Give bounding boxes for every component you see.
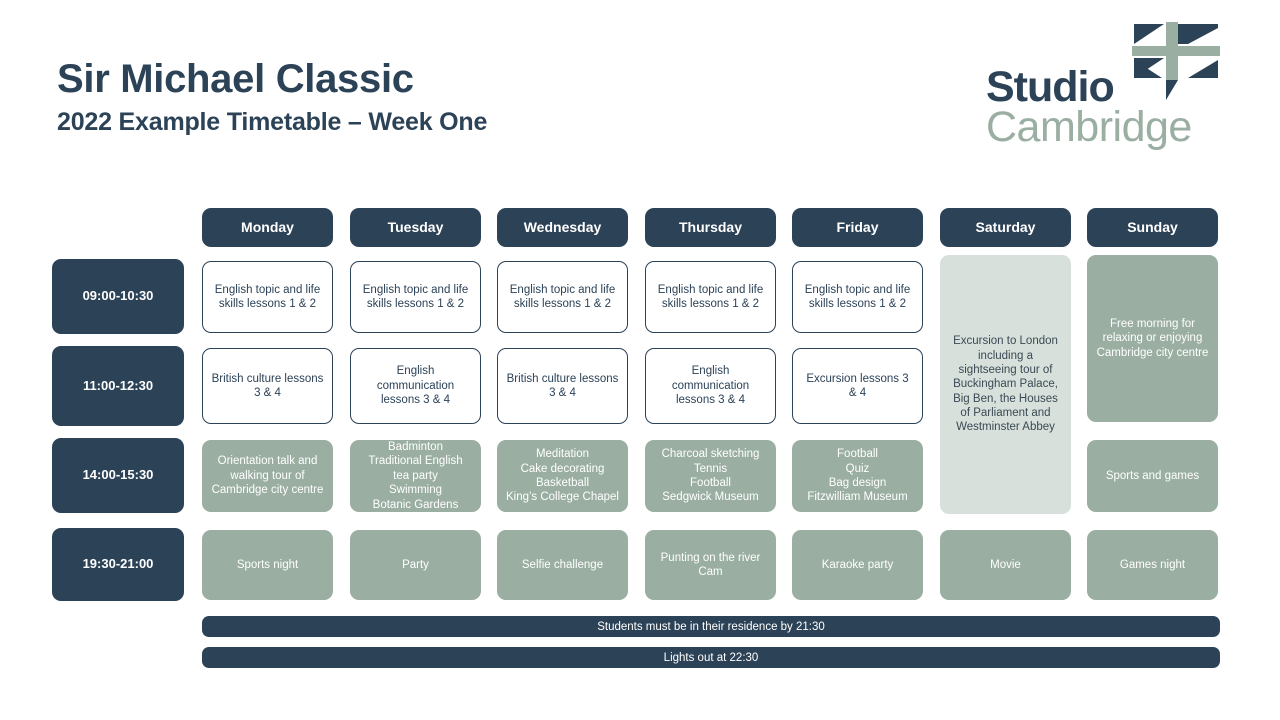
cell-thursday-0900[interactable]: English topic and life skills lessons 1 … [645,261,776,333]
time-label-0900: 09:00-10:30 [52,259,184,334]
time-label-1400: 14:00-15:30 [52,438,184,513]
footer-curfew-bar: Students must be in their residence by 2… [202,616,1220,637]
cell-friday-1400[interactable]: Football Quiz Bag design Fitzwilliam Mus… [792,440,923,512]
day-header-wednesday: Wednesday [497,208,628,247]
footer-lights-out-bar: Lights out at 22:30 [202,647,1220,668]
cell-sunday-1930[interactable]: Games night [1087,530,1218,600]
cell-saturday-excursion[interactable]: Excursion to London including a sightsee… [940,255,1071,514]
cell-tuesday-0900[interactable]: English topic and life skills lessons 1 … [350,261,481,333]
timetable-grid: Monday Tuesday Wednesday Thursday Friday… [0,0,1280,720]
cell-wednesday-0900[interactable]: English topic and life skills lessons 1 … [497,261,628,333]
cell-thursday-1400[interactable]: Charcoal sketching Tennis Football Sedgw… [645,440,776,512]
day-header-friday: Friday [792,208,923,247]
cell-friday-0900[interactable]: English topic and life skills lessons 1 … [792,261,923,333]
day-header-tuesday: Tuesday [350,208,481,247]
cell-monday-1100[interactable]: British culture lessons 3 & 4 [202,348,333,424]
cell-wednesday-1100[interactable]: British culture lessons 3 & 4 [497,348,628,424]
day-header-monday: Monday [202,208,333,247]
cell-thursday-1100[interactable]: English communication lessons 3 & 4 [645,348,776,424]
cell-tuesday-1100[interactable]: English communication lessons 3 & 4 [350,348,481,424]
cell-friday-1100[interactable]: Excursion lessons 3 & 4 [792,348,923,424]
time-label-1100: 11:00-12:30 [52,346,184,426]
cell-friday-1930[interactable]: Karaoke party [792,530,923,600]
cell-wednesday-1930[interactable]: Selfie challenge [497,530,628,600]
time-label-1930: 19:30-21:00 [52,528,184,601]
cell-sunday-1400[interactable]: Sports and games [1087,440,1218,512]
cell-monday-1400[interactable]: Orientation talk and walking tour of Cam… [202,440,333,512]
cell-sunday-free-morning[interactable]: Free morning for relaxing or enjoying Ca… [1087,255,1218,422]
cell-wednesday-1400[interactable]: Meditation Cake decorating Basketball Ki… [497,440,628,512]
day-header-sunday: Sunday [1087,208,1218,247]
cell-monday-1930[interactable]: Sports night [202,530,333,600]
day-header-saturday: Saturday [940,208,1071,247]
cell-monday-0900[interactable]: English topic and life skills lessons 1 … [202,261,333,333]
cell-tuesday-1400[interactable]: Badminton Traditional English tea party … [350,440,481,512]
cell-tuesday-1930[interactable]: Party [350,530,481,600]
day-header-thursday: Thursday [645,208,776,247]
cell-saturday-1930[interactable]: Movie [940,530,1071,600]
cell-thursday-1930[interactable]: Punting on the river Cam [645,530,776,600]
